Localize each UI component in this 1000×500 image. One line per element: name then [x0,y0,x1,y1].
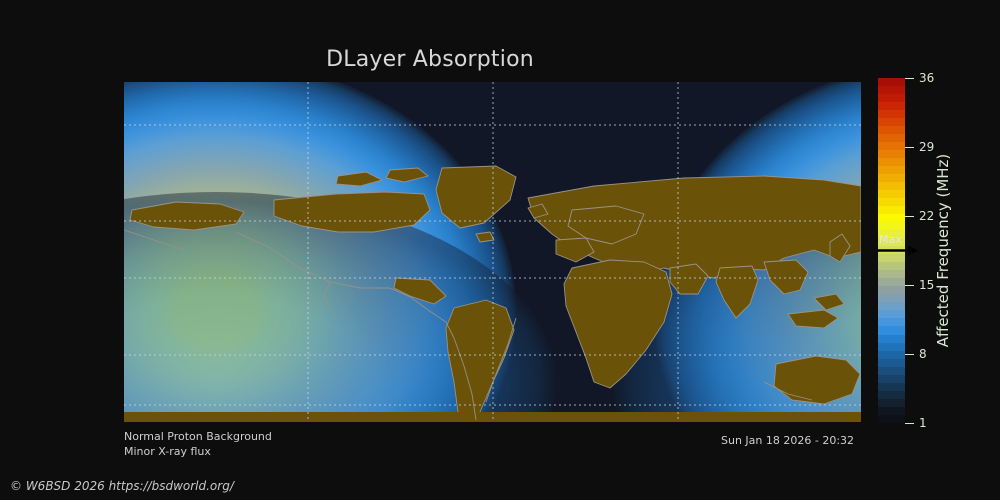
page-title: DLayer Absorption [0,47,860,72]
colorbar-band [878,206,905,214]
colorbar-band [878,246,905,254]
colorbar-band [878,190,905,198]
colorbar-band [878,134,905,142]
timestamp: Sun Jan 18 2026 - 20:32 [721,434,854,447]
colorbar-band [878,351,905,359]
colorbar-band [878,230,905,238]
colorbar-band [878,174,905,182]
colorbar-band [878,110,905,118]
colorbar-band [878,310,905,318]
colorbar-band [878,318,905,326]
colorbar-tick [905,423,914,424]
colorbar-band [878,391,905,399]
colorbar-band [878,198,905,206]
colorbar-band [878,86,905,94]
colorbar-band [878,294,905,302]
colorbar-tick [905,147,914,148]
colorbar-band [878,142,905,150]
colorbar-band [878,270,905,278]
world-map[interactable] [124,82,861,422]
colorbar-band [878,94,905,102]
colorbar-band [878,166,905,174]
colorbar-band [878,407,905,415]
colorbar-band [878,214,905,222]
colorbar-band [878,383,905,391]
colorbar-band [878,262,905,270]
colorbar-band [878,150,905,158]
colorbar-band [878,278,905,286]
colorbar-band [878,367,905,375]
xray-status: Minor X-ray flux [124,445,211,458]
colorbar-band [878,222,905,230]
colorbar-tick [905,285,914,286]
proton-status: Normal Proton Background [124,430,272,443]
colorbar-tick [905,78,914,79]
colorbar-band [878,359,905,367]
colorbar-gradient[interactable] [878,78,905,423]
colorbar-band [878,399,905,407]
colorbar-band [878,182,905,190]
colorbar-title: Affected Frequency (MHz) [930,78,957,423]
colorbar-band [878,343,905,351]
map-canvas [124,82,861,422]
colorbar-band [878,238,905,246]
copyright-notice[interactable]: © W6BSD 2026 https://bsdworld.org/ [10,479,234,493]
colorbar-band [878,286,905,294]
colorbar-tick [905,216,914,217]
colorbar-band [878,78,905,86]
colorbar-band [878,118,905,126]
colorbar-tick-label: 8 [919,347,927,361]
colorbar-band [878,375,905,383]
colorbar-band [878,415,905,423]
colorbar-band [878,326,905,334]
colorbar-band [878,335,905,343]
colorbar-band [878,158,905,166]
dlayer-absorption-map-app: DLayer Absorption [0,0,1000,500]
colorbar-tick-label: 1 [919,416,927,430]
colorbar-tick [905,354,914,355]
colorbar-band [878,254,905,262]
colorbar-band [878,302,905,310]
colorbar-band [878,126,905,134]
colorbar-band [878,102,905,110]
